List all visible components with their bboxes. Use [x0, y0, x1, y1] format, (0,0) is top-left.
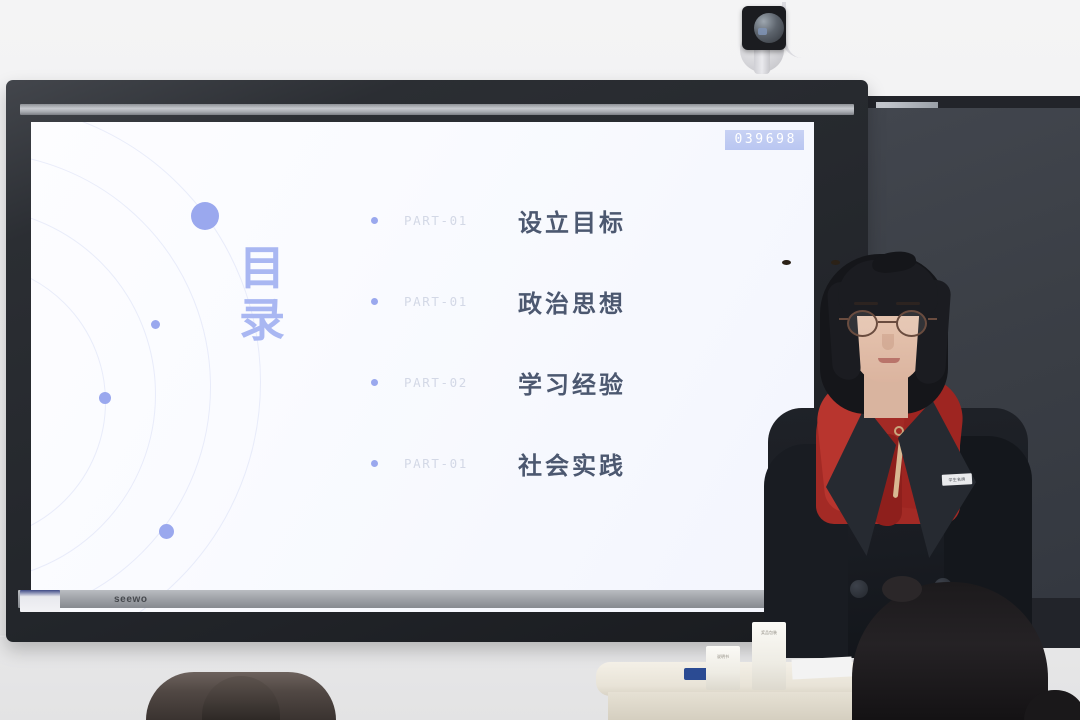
security-camera [724, 2, 800, 74]
bullet-dot-icon [371, 298, 378, 305]
decor-dot-2 [151, 320, 160, 329]
display-bottom-trim: seewo [18, 590, 856, 608]
toc-item[interactable]: PART-01 社会实践 [371, 423, 701, 504]
foreground-student-left [146, 672, 336, 720]
podium-box-small: 说明书 [706, 646, 740, 690]
toc-item[interactable]: PART-01 设立目标 [371, 180, 701, 261]
toc-part-label: PART-02 [404, 375, 496, 390]
toc-part-label: PART-01 [404, 213, 496, 228]
toc-part-label: PART-01 [404, 456, 496, 471]
glasses-lens-right [896, 310, 927, 337]
presenter-name-badge: 学生名牌 [942, 473, 973, 486]
glasses-temple-right [928, 318, 937, 320]
interactive-smart-display[interactable]: 039698 目录 PART-01 设立目标 PART-01 政治思想 PART… [6, 80, 868, 642]
slide-number-badge: 039698 [725, 130, 804, 150]
presenter-eye-right [831, 260, 840, 265]
classroom-scene: 039698 目录 PART-01 设立目标 PART-01 政治思想 PART… [0, 0, 1080, 720]
coat-button [850, 580, 868, 598]
podium-paper-sheet [792, 656, 853, 679]
presenter-eyebrow-right [896, 302, 920, 305]
glasses-lens-left [847, 310, 878, 337]
glasses-bridge [878, 321, 898, 323]
toc-heading: 政治思想 [518, 284, 626, 319]
decor-dot-1 [191, 202, 219, 230]
bullet-dot-icon [371, 217, 378, 224]
decor-dot-4 [159, 524, 174, 539]
decor-dot-3 [99, 392, 111, 404]
presenter-nose [882, 334, 894, 350]
podium-box-tall: 奖品包装 [752, 622, 786, 690]
toc-heading: 设立目标 [518, 203, 626, 238]
toc-item[interactable]: PART-01 政治思想 [371, 261, 701, 342]
presenter-eyebrow-left [854, 302, 878, 305]
display-top-trim [20, 104, 854, 115]
bullet-dot-icon [371, 460, 378, 467]
toc-heading: 学习经验 [518, 365, 626, 400]
toc-part-label: PART-01 [404, 294, 496, 309]
podium-box-tall-text: 奖品包装 [755, 630, 783, 636]
camera-lens-glint [758, 28, 767, 35]
bullet-dot-icon [371, 379, 378, 386]
presenter-mouth [878, 358, 900, 363]
podium-base [608, 692, 874, 720]
podium-box-small-text: 说明书 [709, 654, 737, 660]
toc-item[interactable]: PART-02 学习经验 [371, 342, 701, 423]
slide-title: 目录 [227, 242, 299, 346]
display-screen[interactable]: 039698 目录 PART-01 设立目标 PART-01 政治思想 PART… [31, 122, 814, 612]
toc-heading: 社会实践 [518, 446, 626, 481]
presentation-podium: 说明书 奖品包装 [596, 652, 886, 720]
slide-table-of-contents: PART-01 设立目标 PART-01 政治思想 PART-02 学习经验 P… [371, 180, 701, 504]
seewo-brand-logo: seewo [114, 594, 148, 605]
presenter-eye-left [782, 260, 791, 265]
display-asset-sticker [20, 590, 60, 612]
